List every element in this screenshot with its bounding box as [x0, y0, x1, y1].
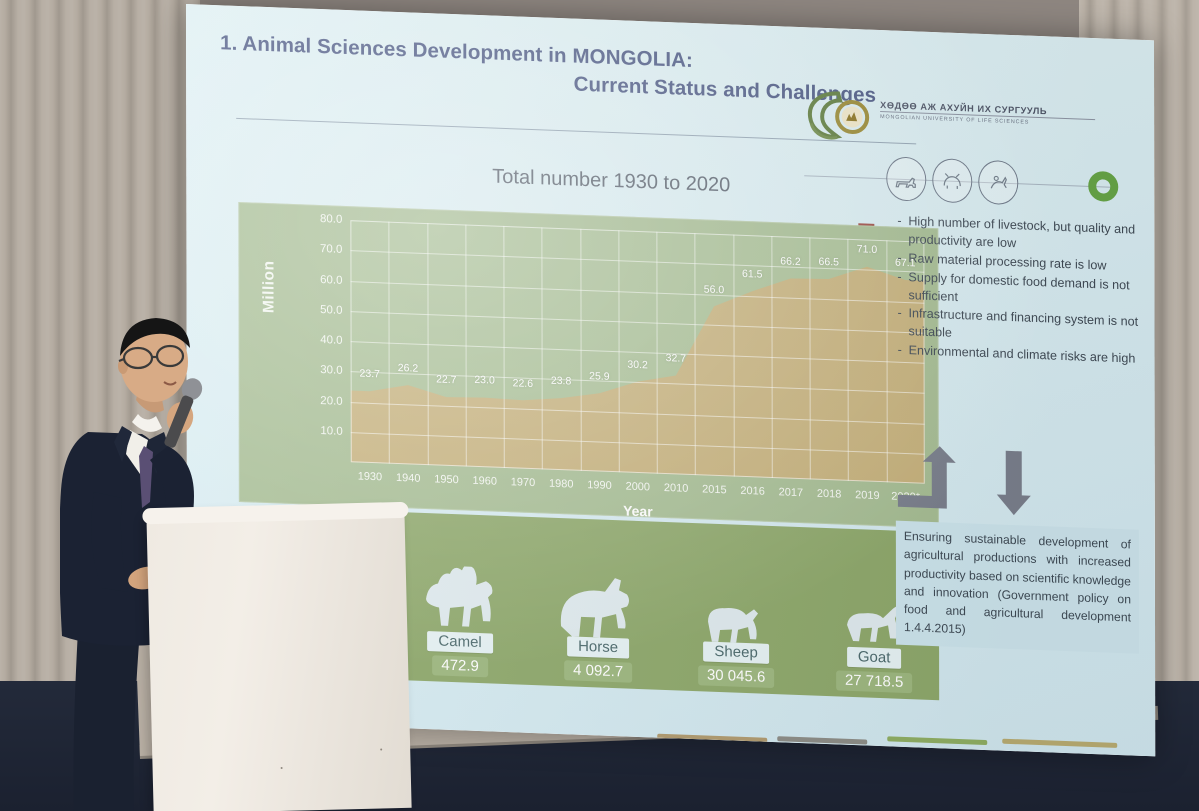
camel-icon	[401, 558, 519, 634]
chart-plot-area: 23.726.222.723.022.623.825.930.232.756.0…	[350, 220, 924, 484]
y-tick-label: 50.0	[291, 303, 343, 317]
livestock-value: 472.9	[432, 655, 488, 677]
data-label: 66.5	[819, 256, 839, 269]
livestock-value-chip: 30 045.6	[677, 660, 795, 688]
y-tick-label: 80.0	[290, 212, 342, 226]
x-tick-label: 2019	[855, 489, 880, 502]
y-tick-label: 30.0	[291, 363, 343, 377]
livestock-value-chip: 4 092.7	[539, 655, 657, 683]
green-ring-accent	[1088, 171, 1118, 202]
livestock-value: 30 045.6	[698, 665, 774, 688]
podium-mark	[281, 767, 283, 769]
chart-title: Total number 1930 to 2020	[401, 162, 821, 201]
data-label: 30.2	[627, 358, 647, 371]
livestock-name: Horse	[567, 636, 629, 658]
x-tick-label: 1990	[587, 479, 612, 492]
down-arrow-icon-gray	[997, 450, 1031, 515]
conclusion-textbox: Ensuring sustainable development of agri…	[896, 521, 1139, 654]
decorative-bar	[1002, 739, 1117, 748]
data-label: 22.7	[436, 374, 456, 387]
challenges-list: High number of livestock, but quality an…	[896, 213, 1138, 370]
x-tick-label: 1980	[549, 478, 574, 491]
y-tick-label: 20.0	[291, 393, 343, 407]
livestock-name: Goat	[847, 647, 902, 669]
x-tick-label: 1960	[472, 475, 497, 488]
livestock-cell-camel: Camel472.9	[401, 558, 519, 678]
x-tick-label: 1940	[396, 472, 421, 485]
page-title: 1. Animal Sciences Development in MONGOL…	[220, 29, 880, 110]
x-tick-label: 2000	[626, 481, 651, 494]
livestock-name: Sheep	[703, 641, 768, 663]
data-label: 61.5	[742, 268, 762, 281]
dog-icon	[886, 156, 926, 202]
y-tick-label: 40.0	[291, 333, 343, 347]
cattle-icon	[932, 158, 972, 204]
data-label: 25.9	[589, 370, 609, 383]
logo-mark-icon	[804, 87, 874, 145]
livestock-value: 27 718.5	[836, 670, 912, 693]
podium-mark	[380, 749, 382, 751]
data-label: 23.8	[551, 375, 571, 388]
data-label: 22.6	[513, 377, 533, 390]
x-tick-label: 1930	[358, 470, 383, 483]
decorative-bar	[887, 736, 987, 745]
data-label: 23.7	[360, 368, 380, 381]
x-tick-label: 2010	[664, 482, 689, 495]
x-tick-label: 2017	[779, 486, 804, 499]
horse-icon	[539, 563, 657, 639]
livestock-value-chip: 27 718.5	[815, 666, 933, 694]
livestock-cell-sheep: Sheep30 045.6	[677, 568, 795, 688]
data-label: 71.0	[857, 243, 877, 256]
y-tick-label: 70.0	[290, 242, 342, 256]
data-label: 23.0	[474, 374, 494, 387]
chart-container: Million 10.020.030.040.050.060.070.080.0…	[238, 202, 939, 528]
elbow-up-arrow-icon	[898, 445, 956, 509]
x-tick-label: 1970	[511, 476, 536, 489]
x-tick-label: 2018	[817, 488, 842, 501]
horse-rider-icon	[978, 160, 1018, 206]
y-tick-label: 10.0	[291, 424, 343, 438]
logo-text: ХӨДӨӨ АЖ АХУЙН ИХ СУРГУУЛЬ MONGOLIAN UNI…	[880, 100, 1095, 128]
x-tick-label: 2016	[740, 485, 765, 498]
arrow-group	[898, 443, 1133, 526]
podium	[146, 508, 411, 811]
livestock-value-chip: 472.9	[401, 650, 519, 678]
coin-icon-row	[886, 156, 1018, 205]
livestock-name: Camel	[427, 631, 492, 653]
x-tick-label: 2015	[702, 483, 727, 496]
sheep-icon	[677, 568, 795, 644]
data-label: 26.2	[398, 362, 418, 375]
x-tick-label: 1950	[434, 473, 459, 486]
livestock-value: 4 092.7	[564, 660, 632, 683]
data-label: 56.0	[704, 283, 724, 296]
y-axis-ticks: 10.020.030.040.050.060.070.080.0	[290, 210, 342, 488]
data-label: 32.7	[666, 352, 686, 365]
y-tick-label: 60.0	[290, 272, 342, 286]
data-label: 66.2	[780, 255, 800, 268]
livestock-cell-horse: Horse4 092.7	[539, 563, 657, 683]
